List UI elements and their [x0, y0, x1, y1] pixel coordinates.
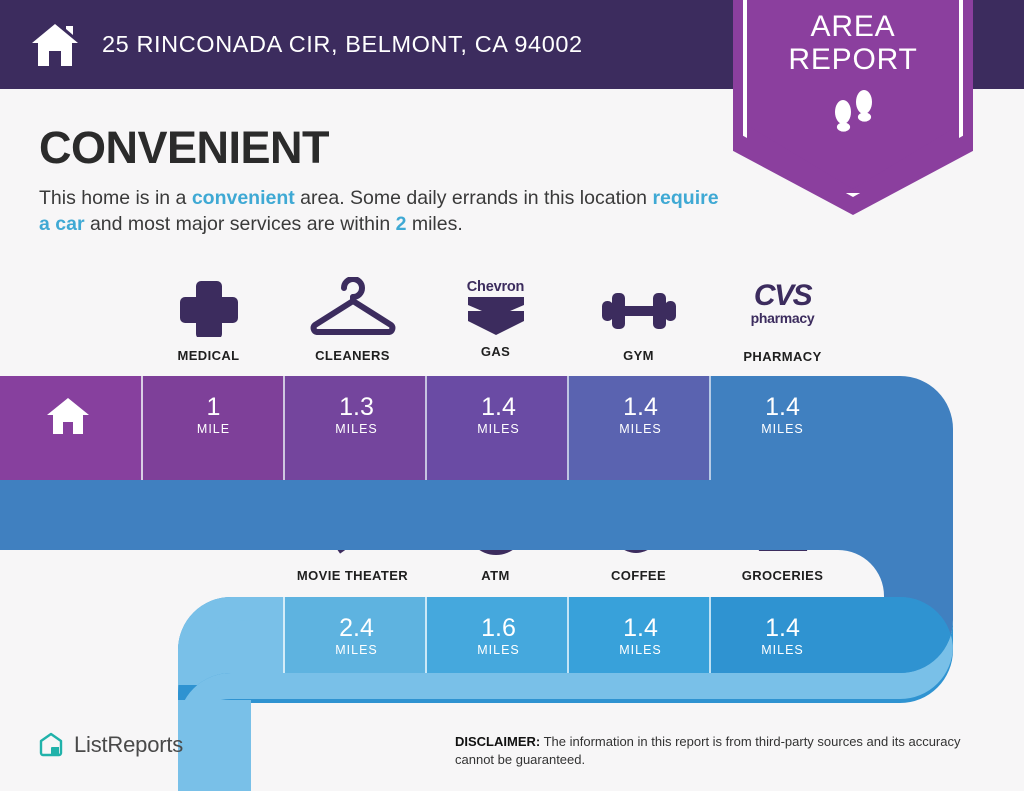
row2-value-movie-theater-unit: MILES: [285, 643, 428, 657]
row2-value-coffee-unit: MILES: [569, 643, 712, 657]
row2-value-movie-theater-number: 2.4: [285, 615, 428, 642]
row1-value-gas-unit: MILES: [427, 422, 570, 436]
badge-line-1: AREA: [733, 10, 973, 43]
row1-value-gym-number: 1.4: [569, 394, 712, 421]
row1-value-pharmacy-unit: MILES: [711, 422, 854, 436]
row2-value-atm-unit: MILES: [427, 643, 570, 657]
row2-value-atm: 1.6 MILES: [427, 615, 570, 657]
row2-value-coffee: 1.4 MILES: [569, 615, 712, 657]
row1-value-cleaners-number: 1.3: [285, 394, 428, 421]
row2-value-atm-number: 1.6: [427, 615, 570, 642]
disclaimer-label: DISCLAIMER:: [455, 734, 540, 749]
row1-value-pharmacy-number: 1.4: [711, 394, 854, 421]
row2-value-groceries: 1.4 MILES: [711, 615, 854, 657]
row1-value-gas-number: 1.4: [427, 394, 570, 421]
disclaimer: DISCLAIMER: The information in this repo…: [455, 733, 985, 768]
row1-value-medical-number: 1: [142, 394, 285, 421]
listreports-logo: ListReports: [38, 731, 183, 759]
listreports-wordmark: ListReports: [74, 732, 183, 758]
badge-line-2: REPORT: [733, 43, 973, 76]
row1-origin-house-icon: [46, 396, 90, 436]
row1-value-cleaners: 1.3 MILES: [285, 394, 428, 436]
row2-value-groceries-number: 1.4: [711, 615, 854, 642]
row1-value-gas: 1.4 MILES: [427, 394, 570, 436]
row2-value-groceries-unit: MILES: [711, 643, 854, 657]
row2-value-coffee-number: 1.4: [569, 615, 712, 642]
row1-value-medical-unit: MILE: [142, 422, 285, 436]
row1-value-cleaners-unit: MILES: [285, 422, 428, 436]
row2-value-movie-theater: 2.4 MILES: [285, 615, 428, 657]
row1-value-gym-unit: MILES: [569, 422, 712, 436]
row1-value-pharmacy: 1.4 MILES: [711, 394, 854, 436]
badge-title: AREA REPORT: [733, 10, 973, 76]
listreports-house-icon: [38, 731, 64, 759]
row2-left-tail: [178, 700, 251, 791]
row1-value-gym: 1.4 MILES: [569, 394, 712, 436]
footprints-icon: [829, 86, 881, 138]
row1-value-medical: 1 MILE: [142, 394, 285, 436]
